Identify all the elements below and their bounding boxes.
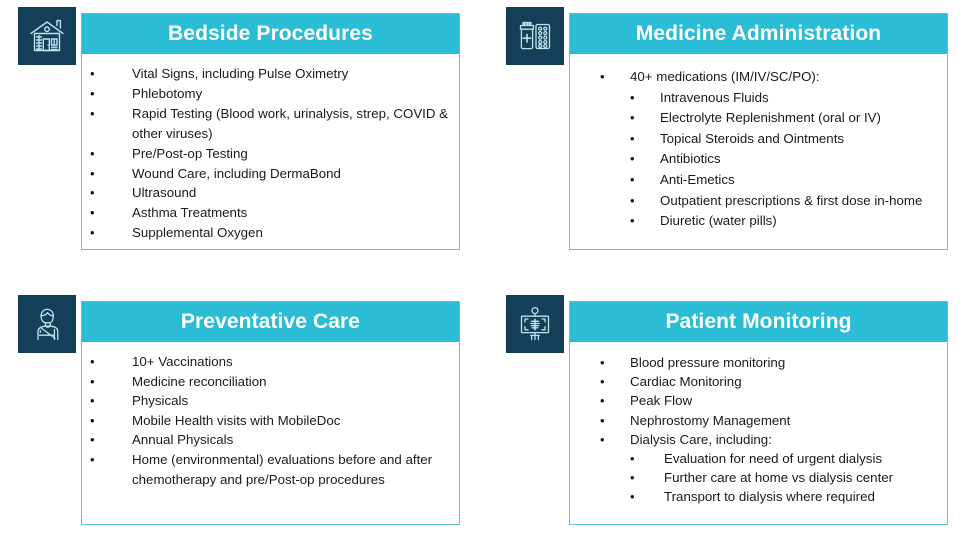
list-item-text: Rapid Testing (Blood work, urinalysis, s… <box>132 104 449 144</box>
sub-list-item-text: Topical Steroids and Ointments <box>660 131 844 146</box>
bullet-glyph: • <box>630 468 635 487</box>
sub-list-item: •Evaluation for need of urgent dialysis <box>630 449 937 468</box>
list-item: •Pre/Post-op Testing <box>90 144 449 164</box>
sub-list-item: •Intravenous Fluids <box>630 88 937 109</box>
list-item-text: 40+ medications (IM/IV/SC/PO): <box>630 67 937 88</box>
list-item-text: Mobile Health visits with MobileDoc <box>132 411 449 431</box>
bullet-glyph: • <box>600 430 614 449</box>
list-item: •Cardiac Monitoring <box>582 372 937 391</box>
card-content: •Blood pressure monitoring •Cardiac Moni… <box>570 342 947 524</box>
list-item: •Physicals <box>90 391 449 411</box>
services-overview-board: Bedside Procedures •Vital Signs, includi… <box>0 0 975 539</box>
list-item: •Phlebotomy <box>90 84 449 104</box>
bullet-glyph: • <box>600 391 614 410</box>
house-icon <box>18 7 76 65</box>
medicine-bottle-and-pills-icon <box>506 7 564 65</box>
list-item-text: Physicals <box>132 391 449 411</box>
bullet-glyph: • <box>90 164 104 184</box>
bullet-glyph: • <box>600 353 614 372</box>
list-item-text: Phlebotomy <box>132 84 449 104</box>
sub-list-item: •Further care at home vs dialysis center <box>630 468 937 487</box>
sub-list-item-text: Evaluation for need of urgent dialysis <box>664 451 882 466</box>
sub-bullet-list: •Evaluation for need of urgent dialysis … <box>630 449 937 507</box>
bullet-glyph: • <box>90 352 104 372</box>
list-item-text: Supplemental Oxygen <box>132 223 449 243</box>
list-item: •10+ Vaccinations <box>90 352 449 372</box>
list-item: •Medicine reconciliation <box>90 372 449 392</box>
bullet-glyph: • <box>630 191 635 212</box>
card-patient-monitoring: Patient Monitoring •Blood pressure monit… <box>506 295 948 525</box>
sub-list-item-text: Electrolyte Replenishment (oral or IV) <box>660 110 881 125</box>
list-item: •Home (environmental) evaluations before… <box>90 450 449 489</box>
card-title: Patient Monitoring <box>570 302 947 342</box>
list-item-text: Wound Care, including DermaBond <box>132 164 449 184</box>
list-item-text: Dialysis Care, including: <box>630 430 937 449</box>
list-item-text: Peak Flow <box>630 391 937 410</box>
bullet-glyph: • <box>90 450 104 470</box>
bullet-glyph: • <box>90 372 104 392</box>
list-item: •Vital Signs, including Pulse Oximetry <box>90 64 449 84</box>
list-item-text: Medicine reconciliation <box>132 372 449 392</box>
sub-list-item: •Transport to dialysis where required <box>630 487 937 506</box>
sub-list-item-text: Further care at home vs dialysis center <box>664 470 893 485</box>
list-item: •Peak Flow <box>582 391 937 410</box>
bullet-glyph: • <box>630 88 635 109</box>
bullet-glyph: • <box>600 372 614 391</box>
list-item: •Asthma Treatments <box>90 203 449 223</box>
list-item: • 40+ medications (IM/IV/SC/PO): •Intrav… <box>582 67 937 232</box>
sub-list-item-text: Diuretic (water pills) <box>660 213 777 228</box>
bullet-glyph: • <box>630 449 635 468</box>
list-item-text: Home (environmental) evaluations before … <box>132 450 449 489</box>
list-item-text: Pre/Post-op Testing <box>132 144 449 164</box>
card-body: Preventative Care •10+ Vaccinations •Med… <box>81 301 460 525</box>
bullet-glyph: • <box>630 487 635 506</box>
list-item-text: Annual Physicals <box>132 430 449 450</box>
sub-list-item-text: Outpatient prescriptions & first dose in… <box>660 193 922 208</box>
list-item: • Dialysis Care, including: •Evaluation … <box>582 430 937 507</box>
card-bedside-procedures: Bedside Procedures •Vital Signs, includi… <box>18 7 460 250</box>
list-item: •Blood pressure monitoring <box>582 353 937 372</box>
bullet-glyph: • <box>90 411 104 431</box>
sub-bullet-list: •Intravenous Fluids •Electrolyte Repleni… <box>630 88 937 232</box>
bullet-glyph: • <box>90 84 104 104</box>
card-content: •10+ Vaccinations •Medicine reconciliati… <box>82 342 459 524</box>
sub-list-item-text: Antibiotics <box>660 151 721 166</box>
sub-list-item: •Outpatient prescriptions & first dose i… <box>630 191 937 212</box>
card-body: Medicine Administration • 40+ medication… <box>569 13 948 250</box>
bullet-glyph: • <box>90 104 104 124</box>
bullet-glyph: • <box>630 149 635 170</box>
list-item: •Ultrasound <box>90 183 449 203</box>
card-content: •Vital Signs, including Pulse Oximetry •… <box>82 54 459 251</box>
list-item: •Nephrostomy Management <box>582 411 937 430</box>
bullet-glyph: • <box>90 430 104 450</box>
bullet-glyph: • <box>630 211 635 232</box>
card-title: Preventative Care <box>82 302 459 342</box>
list-item-text: 10+ Vaccinations <box>132 352 449 372</box>
bullet-glyph: • <box>630 129 635 150</box>
card-body: Bedside Procedures •Vital Signs, includi… <box>81 13 460 250</box>
list-item: •Wound Care, including DermaBond <box>90 164 449 184</box>
sub-list-item: •Antibiotics <box>630 149 937 170</box>
card-title: Medicine Administration <box>570 14 947 54</box>
bullet-list: •10+ Vaccinations •Medicine reconciliati… <box>90 352 449 489</box>
list-item-text: Blood pressure monitoring <box>630 353 937 372</box>
sub-list-item: •Topical Steroids and Ointments <box>630 129 937 150</box>
list-item: •Rapid Testing (Blood work, urinalysis, … <box>90 104 449 144</box>
bullet-glyph: • <box>600 411 614 430</box>
sub-list-item: •Electrolyte Replenishment (oral or IV) <box>630 108 937 129</box>
list-item: •Mobile Health visits with MobileDoc <box>90 411 449 431</box>
list-item-text: Asthma Treatments <box>132 203 449 223</box>
bullet-glyph: • <box>630 108 635 129</box>
list-item-text: Nephrostomy Management <box>630 411 937 430</box>
card-preventative-care: Preventative Care •10+ Vaccinations •Med… <box>18 295 460 525</box>
bullet-glyph: • <box>90 144 104 164</box>
bullet-list: •Blood pressure monitoring •Cardiac Moni… <box>582 353 937 507</box>
card-medicine-administration: Medicine Administration • 40+ medication… <box>506 7 948 250</box>
bullet-glyph: • <box>90 183 104 203</box>
xray-monitor-icon <box>506 295 564 353</box>
list-item-text: Ultrasound <box>132 183 449 203</box>
bullet-glyph: • <box>90 64 104 84</box>
bullet-glyph: • <box>600 67 614 88</box>
sub-list-item: •Diuretic (water pills) <box>630 211 937 232</box>
injured-patient-icon <box>18 295 76 353</box>
bullet-glyph: • <box>90 203 104 223</box>
bullet-glyph: • <box>90 391 104 411</box>
card-content: • 40+ medications (IM/IV/SC/PO): •Intrav… <box>570 54 947 249</box>
bullet-list: •Vital Signs, including Pulse Oximetry •… <box>90 64 449 243</box>
list-item: •Annual Physicals <box>90 430 449 450</box>
bullet-glyph: • <box>90 223 104 243</box>
sub-list-item-text: Anti-Emetics <box>660 172 735 187</box>
list-item-text: Cardiac Monitoring <box>630 372 937 391</box>
sub-list-item: •Anti-Emetics <box>630 170 937 191</box>
card-title: Bedside Procedures <box>82 14 459 54</box>
list-item-text: Vital Signs, including Pulse Oximetry <box>132 64 449 84</box>
list-item: •Supplemental Oxygen <box>90 223 449 243</box>
sub-list-item-text: Transport to dialysis where required <box>664 489 875 504</box>
bullet-list: • 40+ medications (IM/IV/SC/PO): •Intrav… <box>582 67 937 232</box>
sub-list-item-text: Intravenous Fluids <box>660 90 769 105</box>
card-body: Patient Monitoring •Blood pressure monit… <box>569 301 948 525</box>
bullet-glyph: • <box>630 170 635 191</box>
